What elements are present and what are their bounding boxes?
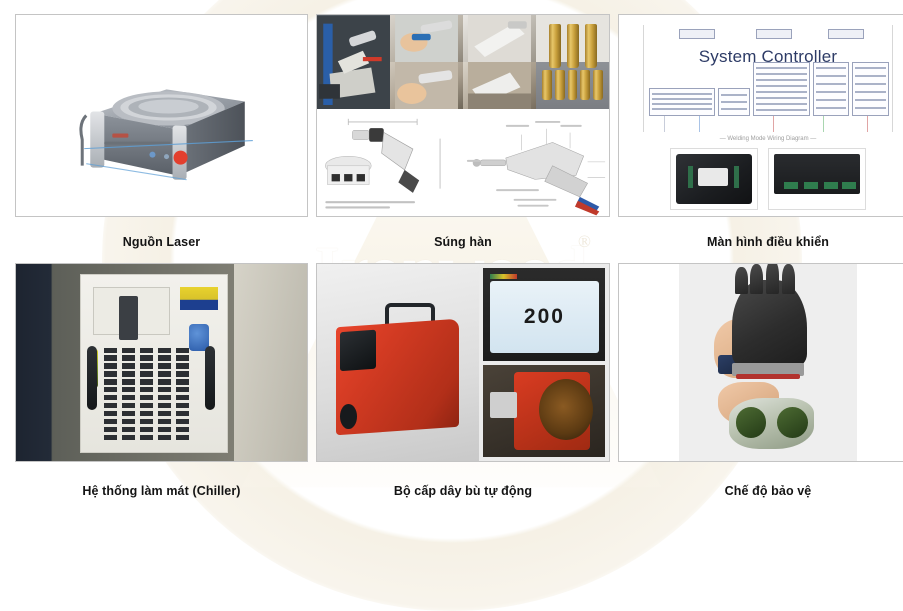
gear-right-pad (857, 264, 903, 461)
card-image-frame (618, 263, 903, 462)
chiller-handle (205, 346, 215, 410)
card-image-frame: 200 (316, 263, 610, 462)
glove-edge-trim (736, 374, 800, 379)
goggle-lens (777, 407, 808, 438)
brass-nozzle (593, 70, 603, 100)
glove-finger (735, 267, 748, 294)
io-block (852, 62, 889, 116)
card-image-frame (15, 14, 308, 217)
welding-gun-image (317, 15, 609, 216)
panel-screen: 200 (490, 281, 599, 353)
gun-labelled-drawing (463, 109, 609, 217)
panel-value: 200 (524, 305, 565, 329)
brass-nozzle (580, 70, 590, 100)
panel-indicator-strip (490, 274, 517, 280)
card-caption-protective-gear: Chế độ bảo vệ (618, 484, 903, 499)
chiller-button (119, 314, 138, 341)
protective-glove (732, 280, 807, 369)
feeder-detail-column: 200 (479, 264, 609, 461)
card-caption-chiller: Hệ thống làm mát (Chiller) (15, 484, 308, 499)
nozzle-row-top (542, 24, 603, 68)
gear-photo-area (679, 264, 858, 461)
brass-nozzle (555, 70, 565, 100)
card-caption-wire-feeder: Bộ cấp dây bù tự động (316, 484, 610, 499)
hmi-touchscreen-device (670, 148, 758, 210)
wire (867, 116, 868, 132)
accessory-card-control-screen[interactable]: System Controller (618, 14, 903, 263)
io-block (753, 62, 810, 116)
photo-welding-in-use (317, 15, 390, 109)
wiring-diagram: System Controller (643, 25, 893, 132)
protective-gear-image (619, 264, 903, 461)
photo-column-gun-closeups (463, 15, 536, 109)
gear-left-pad (619, 264, 679, 461)
glove-finger (766, 263, 779, 294)
chiller-image (16, 264, 307, 461)
feeder-unit-photo (317, 264, 479, 461)
brass-nozzle (568, 70, 578, 100)
welding-gun-photo-strip (317, 15, 609, 109)
controller-devices (629, 148, 903, 210)
glove-finger (750, 264, 763, 294)
gun-dimension-drawing (317, 109, 463, 217)
card-caption-welding-gun: Súng hàn (316, 235, 610, 250)
photo-hand-welding-top (390, 15, 463, 62)
wire (699, 116, 700, 132)
spool-mini-display (490, 392, 517, 418)
wire-spool (539, 379, 593, 440)
io-block (649, 88, 715, 116)
wire (823, 116, 824, 132)
feeder-control-panel-photo: 200 (483, 268, 605, 361)
signal-port-chip (828, 29, 864, 39)
chiller-vent-grille (104, 348, 188, 444)
accessory-card-chiller[interactable]: Hệ thống làm mát (Chiller) (15, 263, 308, 511)
goggle-lens (736, 407, 767, 438)
brass-nozzle (542, 70, 552, 100)
protective-goggles (729, 398, 815, 449)
photo-column-hand-welding (390, 15, 463, 109)
chiller-side-cabinet (234, 264, 307, 461)
accessory-card-protective-gear[interactable]: Chế độ bảo vệ (618, 263, 903, 511)
brass-nozzle (585, 24, 597, 68)
laser-source-image (16, 15, 307, 216)
chiller-warning-sticker (180, 287, 218, 310)
card-image-frame (15, 263, 308, 462)
nozzle-row-bottom (542, 70, 603, 100)
photo-brass-nozzles (536, 15, 609, 109)
brass-nozzle (549, 24, 561, 68)
accessory-grid: Nguồn Laser (0, 0, 903, 511)
wire (773, 116, 774, 132)
control-screen-image: System Controller (619, 15, 903, 216)
photo-gun-closeup-top (463, 15, 536, 62)
glove-finger (782, 264, 795, 294)
io-block (813, 62, 850, 116)
card-image-frame (316, 14, 610, 217)
diagram-caption: — Welding Mode Wiring Diagram — (629, 136, 903, 142)
signal-port-chip (756, 29, 792, 39)
card-caption-laser-source: Nguồn Laser (15, 235, 308, 250)
wire-feeder-image: 200 (317, 264, 609, 461)
controller-box-device (768, 148, 866, 210)
feeder-spool-photo (483, 365, 605, 458)
photo-hand-welding-bottom (390, 62, 463, 109)
card-caption-control-screen: Màn hình điều khiển (618, 235, 903, 250)
accessory-card-laser-source[interactable]: Nguồn Laser (15, 14, 308, 263)
welding-gun-diagram (317, 109, 609, 217)
accessory-card-wire-feeder[interactable]: 200 Bộ cấp dây bù tự động (316, 263, 610, 511)
photo-gun-closeup-bottom (463, 62, 536, 109)
chiller-front-panel (80, 274, 228, 453)
brass-nozzle (567, 24, 579, 68)
feeder-display (340, 330, 376, 372)
io-block (718, 88, 750, 116)
card-image-frame: System Controller (618, 14, 903, 217)
wire (664, 116, 665, 132)
signal-port-chip (679, 29, 715, 39)
chiller-handle (87, 346, 97, 410)
accessory-card-welding-gun[interactable]: Súng hàn (316, 14, 610, 263)
